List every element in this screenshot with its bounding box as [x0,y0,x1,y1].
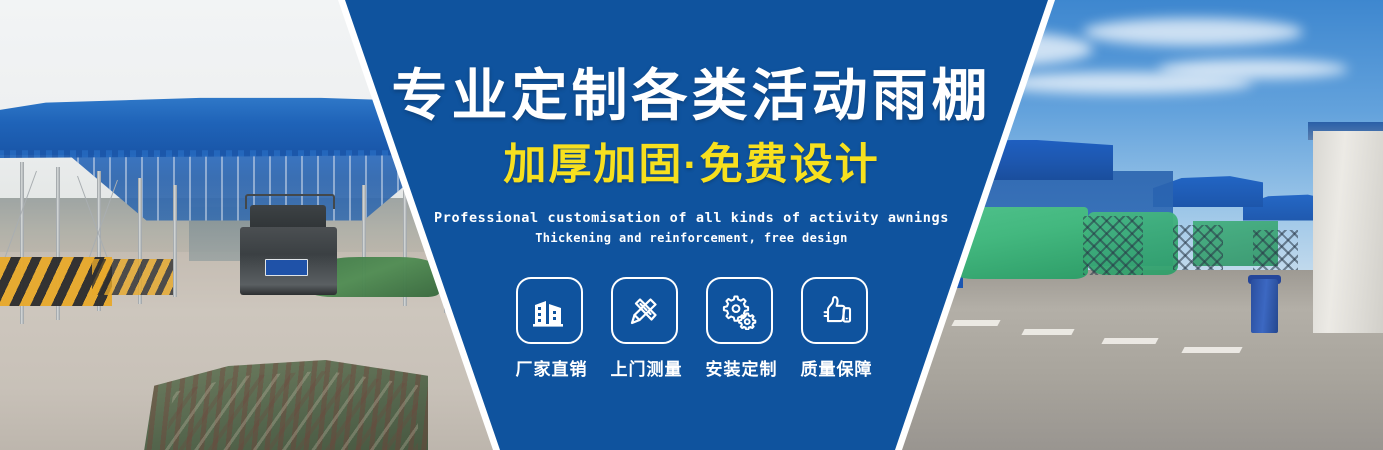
feature-label: 厂家直销 [516,355,583,380]
factory-building-icon [530,292,568,330]
pen-ruler-measure-icon [625,292,663,330]
feature-item-onsite-measurement[interactable]: 上门测量 [611,277,678,380]
feature-list: 厂家直销 上门测量 [0,277,1383,380]
feature-icon-box[interactable] [516,277,583,344]
feature-item-quality-guarantee[interactable]: 质量保障 [801,277,868,380]
feature-label: 质量保障 [801,355,868,380]
truck-license-plate [265,259,308,276]
thumbs-up-icon [815,292,853,330]
cloud [1083,18,1303,46]
feature-icon-box[interactable] [706,277,773,344]
feature-icon-box[interactable] [611,277,678,344]
english-tagline-primary: Professional customisation of all kinds … [0,210,1383,226]
feature-label: 安装定制 [706,355,773,380]
gears-icon [720,292,758,330]
page-title: 专业定制各类活动雨棚 [0,66,1383,126]
banner-subheadline: 加厚加固·免费设计 [0,142,1383,189]
english-tagline-secondary: Thickening and reinforcement, free desig… [0,231,1383,245]
feature-icon-box[interactable] [801,277,868,344]
feature-label: 上门测量 [611,355,678,380]
promotional-banner: 专业定制各类活动雨棚 加厚加固·免费设计 Professional custom… [0,0,1383,450]
feature-item-factory-direct-sales[interactable]: 厂家直销 [516,277,583,380]
feature-item-installation-customisation[interactable]: 安装定制 [706,277,773,380]
